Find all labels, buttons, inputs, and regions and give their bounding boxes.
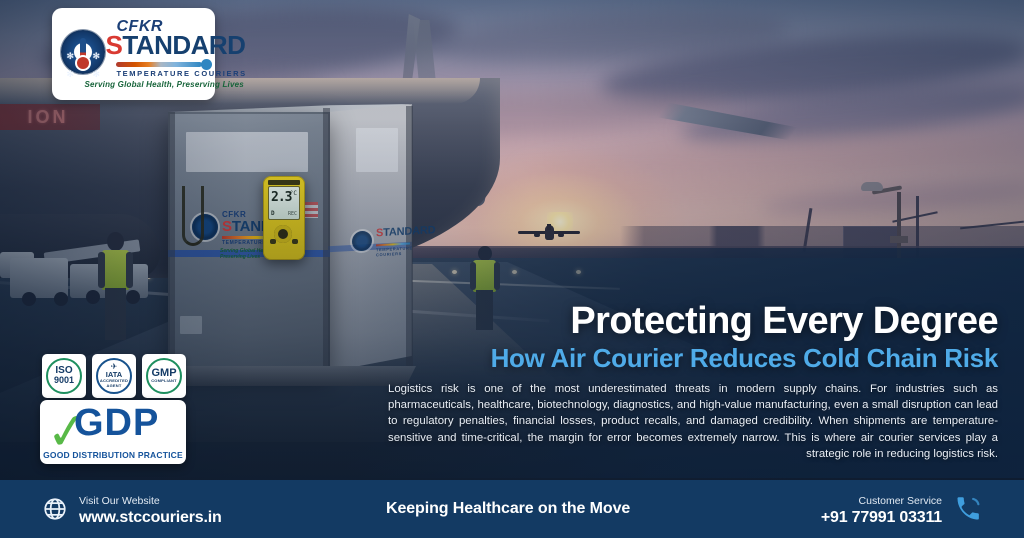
gdp-caption: GOOD DISTRIBUTION PRACTICE: [40, 450, 186, 460]
page-title: Protecting Every Degree: [388, 302, 998, 341]
footer-support-label: Customer Service: [859, 495, 942, 507]
brand-logo: ✻ ✻ ✻ ✻ CFKR STANDARD TEMPERATURE COURIE…: [59, 16, 209, 92]
phone-icon: [954, 495, 982, 523]
thermometer-snowflake-seal-icon: ✻ ✻ ✻ ✻: [61, 30, 105, 74]
snowflake-icon: ✻: [93, 70, 101, 79]
brand-subtitle: TEMPERATURE COURIERS: [117, 69, 247, 78]
promotional-poster: ION: [0, 0, 1024, 538]
cert-badge-gmp: GMP COMPLIANT: [142, 354, 186, 398]
footer-support-text: Customer Service +91 77991 03311: [821, 491, 942, 527]
gdp-badge: ✓ GDP GOOD DISTRIBUTION PRACTICE: [40, 400, 186, 464]
cert-badge-iata: ✈ IATA ACCREDITED AGENT: [92, 354, 136, 398]
footer-website-url[interactable]: www.stccouriers.in: [79, 509, 222, 527]
footer-website-label: Visit Our Website: [79, 495, 160, 507]
cert-caption: ACCREDITED AGENT: [98, 379, 130, 389]
brand-tagline: Serving Global Health, Preserving Lives: [85, 80, 244, 89]
thermometer-gradient-icon: [116, 62, 202, 67]
cert-line2: 9001: [54, 376, 74, 386]
snowflake-icon: ✻: [93, 52, 101, 61]
brand-logo-card: ✻ ✻ ✻ ✻ CFKR STANDARD TEMPERATURE COURIE…: [52, 8, 215, 100]
footer-support-group[interactable]: Customer Service +91 77991 03311: [821, 491, 982, 527]
headline-block: Protecting Every Degree How Air Courier …: [388, 302, 998, 462]
footer-tagline: Keeping Healthcare on the Move: [386, 500, 630, 518]
snowflake-icon: ✻: [67, 70, 75, 79]
cert-badge-iso-9001: ISO 9001: [42, 354, 86, 398]
globe-icon: [42, 496, 68, 522]
cert-caption: COMPLIANT: [151, 379, 177, 384]
certification-badges: ISO 9001 ✈ IATA ACCREDITED AGENT GMP COM…: [42, 354, 186, 398]
cert-ring: ✈ IATA ACCREDITED AGENT: [96, 358, 132, 394]
snowflake-icon: ✻: [67, 52, 75, 61]
footer-website-text: Visit Our Website www.stccouriers.in: [79, 491, 222, 527]
gdp-acronym: GDP: [74, 404, 182, 442]
cert-ring: ISO 9001: [46, 358, 82, 394]
footer-website-group[interactable]: Visit Our Website www.stccouriers.in: [42, 491, 222, 527]
cert-ring: GMP COMPLIANT: [146, 358, 182, 394]
footer-bar: Visit Our Website www.stccouriers.in Kee…: [0, 480, 1024, 538]
page-subtitle: How Air Courier Reduces Cold Chain Risk: [388, 345, 998, 372]
body-paragraph: Logistics risk is one of the most undere…: [388, 381, 998, 462]
brand-standard-text: STANDARD: [106, 32, 246, 58]
footer-support-phone[interactable]: +91 77991 03311: [821, 509, 942, 527]
